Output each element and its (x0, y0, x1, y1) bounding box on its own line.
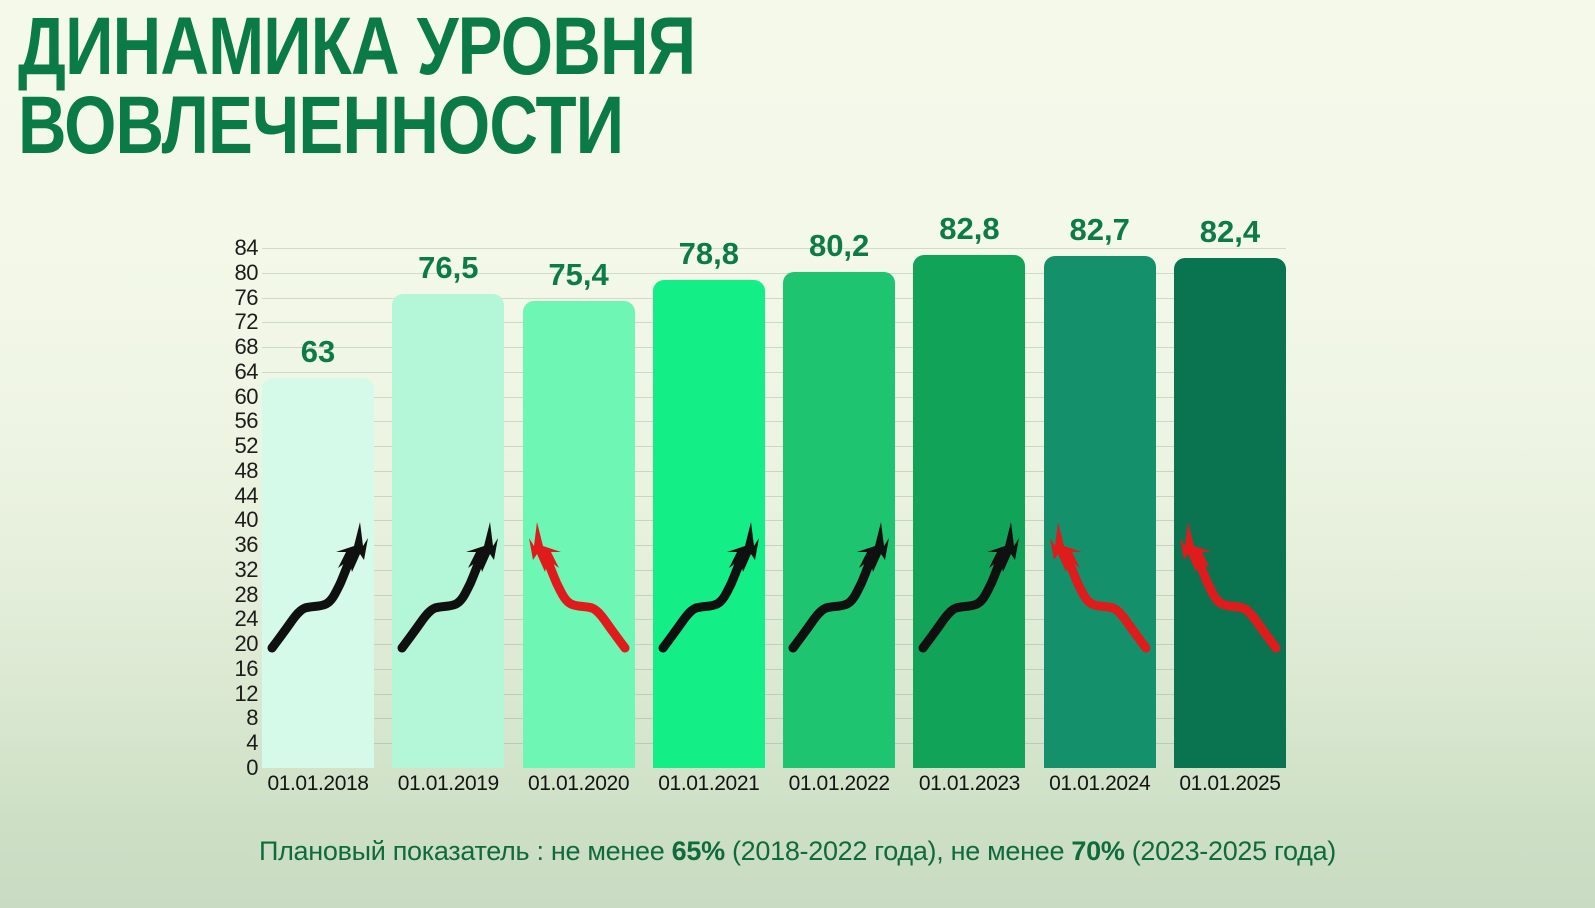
trend-down-arrow-icon (1176, 516, 1284, 656)
bar-value-label: 82,4 (1200, 214, 1260, 250)
y-axis-tick: 56 (235, 408, 258, 434)
y-axis: 8480767268646056524844403632282420161284… (212, 248, 258, 768)
bar-group: 80,2 (783, 248, 895, 768)
y-axis-tick: 52 (235, 433, 258, 459)
y-axis-tick: 4 (246, 730, 258, 756)
bar-group: 63 (262, 248, 374, 768)
plan-target-note: Плановый показатель : не менее 65% (2018… (0, 836, 1595, 867)
trend-up-arrow-icon (915, 516, 1023, 656)
bar-group: 75,4 (523, 248, 635, 768)
y-axis-tick: 48 (235, 458, 258, 484)
y-axis-tick: 64 (235, 359, 258, 385)
y-axis-tick: 28 (235, 582, 258, 608)
y-axis-tick: 12 (235, 681, 258, 707)
bar[interactable] (1174, 258, 1286, 768)
y-axis-tick: 20 (235, 631, 258, 657)
bar-value-label: 78,8 (679, 236, 739, 272)
bar-chart: 8480767268646056524844403632282420161284… (0, 0, 1595, 908)
x-axis-tick: 01.01.2024 (1044, 772, 1156, 808)
x-axis-tick: 01.01.2025 (1174, 772, 1286, 808)
bar-value-label: 76,5 (418, 250, 478, 286)
plot-area: 6376,575,478,880,282,882,782,4 (262, 248, 1286, 768)
y-axis-tick: 60 (235, 384, 258, 410)
note-target-2023-2025: 70% (1071, 836, 1124, 866)
y-axis-tick: 0 (246, 755, 258, 781)
trend-down-arrow-icon (1046, 516, 1154, 656)
trend-up-arrow-icon (655, 516, 763, 656)
bar[interactable] (523, 301, 635, 768)
note-part-2: (2018-2022 года), не менее (725, 836, 1072, 866)
bar-group: 82,8 (913, 248, 1025, 768)
trend-up-arrow-icon (785, 516, 893, 656)
bar-group: 82,7 (1044, 248, 1156, 768)
y-axis-tick: 68 (235, 334, 258, 360)
bar[interactable] (783, 272, 895, 768)
bar-group: 82,4 (1174, 248, 1286, 768)
bar[interactable] (262, 378, 374, 768)
note-part-1: Плановый показатель : не менее (259, 836, 672, 866)
y-axis-tick: 36 (235, 532, 258, 558)
y-axis-tick: 8 (246, 705, 258, 731)
y-axis-tick: 32 (235, 557, 258, 583)
y-axis-tick: 16 (235, 656, 258, 682)
note-part-3: (2023-2025 года) (1125, 836, 1336, 866)
note-target-2018-2022: 65% (672, 836, 725, 866)
bars-container: 6376,575,478,880,282,882,782,4 (262, 248, 1286, 768)
bar-value-label: 82,8 (939, 211, 999, 247)
bar-group: 78,8 (653, 248, 765, 768)
y-axis-tick: 40 (235, 507, 258, 533)
bar[interactable] (913, 255, 1025, 768)
bar-group: 76,5 (392, 248, 504, 768)
x-axis-tick: 01.01.2023 (913, 772, 1025, 808)
x-axis-tick: 01.01.2019 (392, 772, 504, 808)
bar[interactable] (392, 294, 504, 768)
bar-value-label: 75,4 (548, 257, 608, 293)
x-axis-tick: 01.01.2022 (783, 772, 895, 808)
bar-value-label: 63 (301, 334, 335, 370)
bar-value-label: 80,2 (809, 228, 869, 264)
y-axis-tick: 84 (235, 235, 258, 261)
trend-down-arrow-icon (525, 516, 633, 656)
x-axis-tick: 01.01.2020 (523, 772, 635, 808)
y-axis-tick: 24 (235, 606, 258, 632)
bar-value-label: 82,7 (1070, 212, 1130, 248)
trend-up-arrow-icon (394, 516, 502, 656)
x-axis-tick: 01.01.2021 (653, 772, 765, 808)
x-axis: 01.01.201801.01.201901.01.202001.01.2021… (262, 772, 1286, 808)
trend-up-arrow-icon (264, 516, 372, 656)
y-axis-tick: 76 (235, 285, 258, 311)
y-axis-tick: 44 (235, 483, 258, 509)
y-axis-tick: 72 (235, 309, 258, 335)
x-axis-tick: 01.01.2018 (262, 772, 374, 808)
y-axis-tick: 80 (235, 260, 258, 286)
bar[interactable] (1044, 256, 1156, 768)
bar[interactable] (653, 280, 765, 768)
